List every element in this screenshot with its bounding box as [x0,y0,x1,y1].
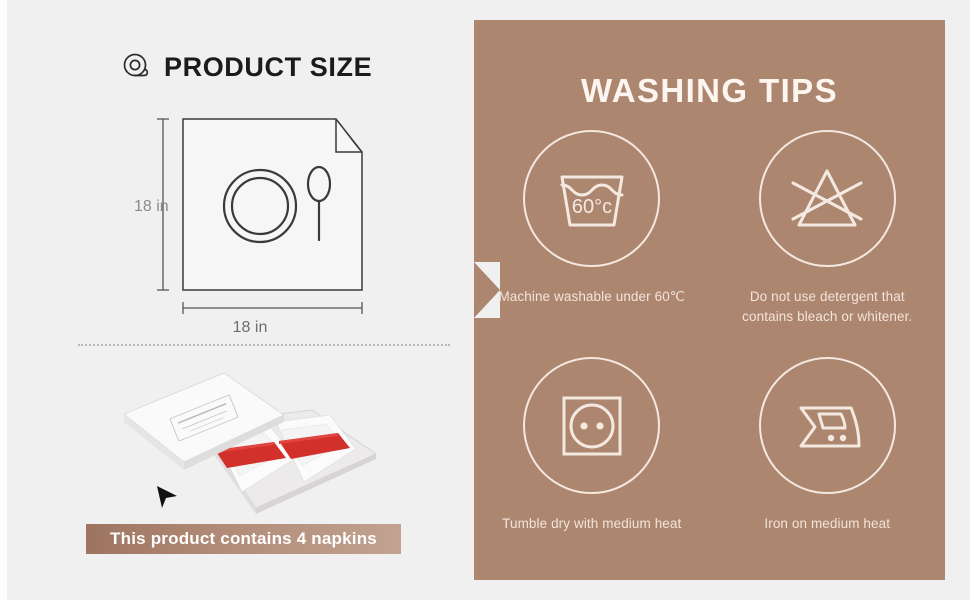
iron-medium-heat-icon [759,357,896,494]
tip-machine-wash: 60°c Machine washable under 60℃ [474,130,710,357]
napkin-size-diagram: 18 in 18 in [112,108,402,338]
wash-temp-text: 60°c [572,196,612,218]
tip-tumble-dry: Tumble dry with medium heat [474,357,710,584]
tip-caption: Tumble dry with medium heat [492,514,692,534]
page-title: PRODUCT SIZE [164,54,372,81]
contains-count-banner: This product contains 4 napkins [86,524,401,554]
contains-count-text: This product contains 4 napkins [110,529,377,549]
wash-tub-icon: 60°c [523,130,660,267]
infographic-canvas: PRODUCT SIZE [0,0,970,600]
height-label: 18 in [134,198,169,215]
washing-tips-title: WASHING TIPS [474,72,945,110]
tumble-dry-medium-icon [523,357,660,494]
tip-iron: Iron on medium heat [710,357,946,584]
panel-notch [474,262,500,318]
tip-caption: Iron on medium heat [727,514,927,534]
do-not-bleach-icon [759,130,896,267]
section-divider [78,344,450,346]
washing-tips-grid: 60°c Machine washable under 60℃ Do not u… [474,130,945,584]
product-size-header: PRODUCT SIZE [122,52,372,82]
tip-caption: Do not use detergent that contains bleac… [727,287,927,326]
washing-tips-panel: WASHING TIPS 60°c Machine washable under… [474,20,945,580]
napkin-outline [183,119,362,290]
width-label: 18 in [233,319,268,336]
tip-no-bleach: Do not use detergent that contains bleac… [710,130,946,357]
pointer-arrow-icon [155,484,181,510]
measuring-tape-icon [122,52,152,82]
tip-caption: Machine washable under 60℃ [492,287,692,307]
width-dimension-line [183,302,362,314]
product-size-section: PRODUCT SIZE [0,0,470,600]
